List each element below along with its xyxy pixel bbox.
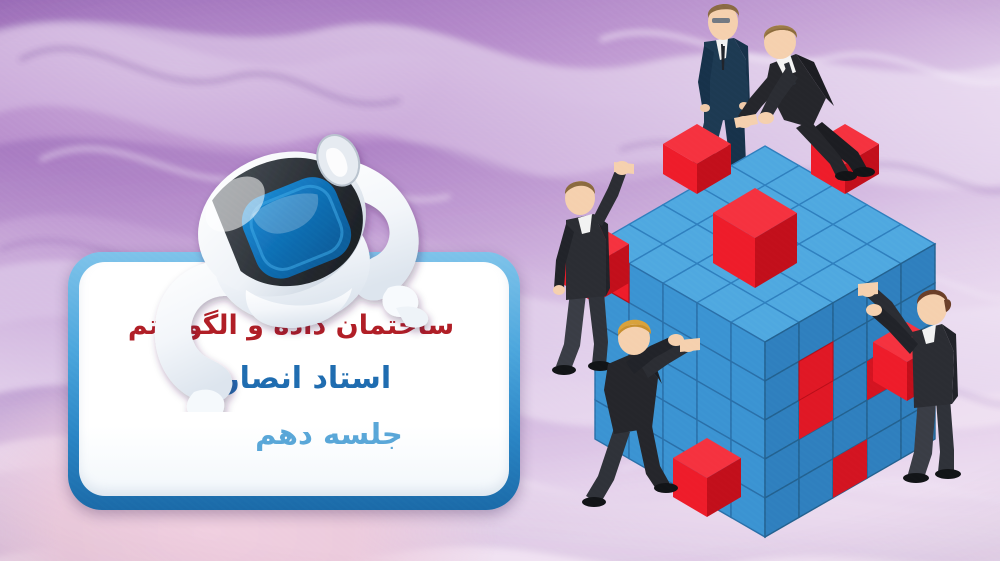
session-number: جلسه دهم [79,419,509,451]
slide-canvas: ساختمان داده و الگوریتم استاد انصاری جلس… [0,0,1000,561]
isometric-block-cube-illustration [540,0,1000,546]
robot-astronaut-mascot [96,112,446,412]
